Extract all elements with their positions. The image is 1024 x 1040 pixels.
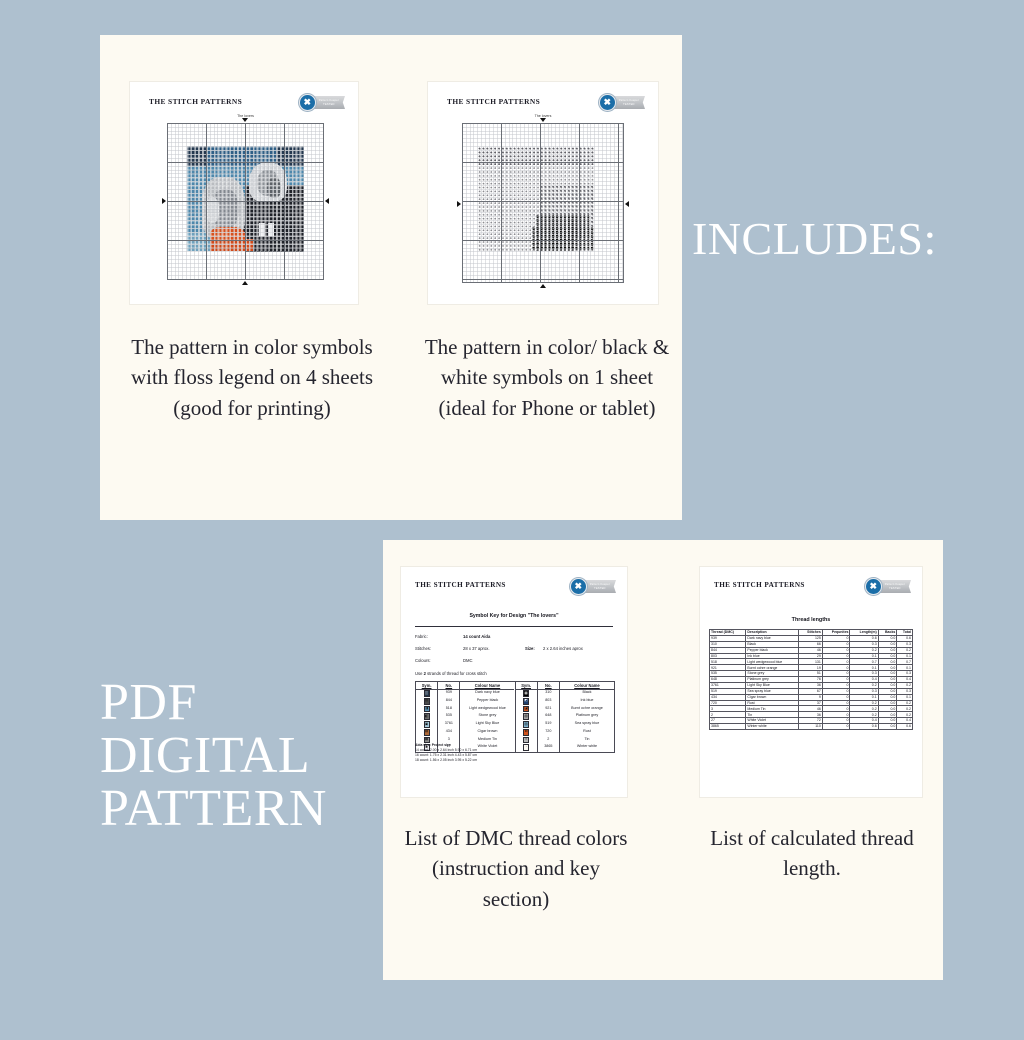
symbol-key-row: ◨518Light wedgewood blue (416, 705, 515, 713)
dmc-number-cell: 518 (437, 705, 460, 713)
caption-thread-length: List of calculated thread length. (690, 823, 934, 884)
thread-color-swatch-icon: ▨ (523, 713, 529, 720)
sheet-bw-symbols[interactable]: THE STITCH PATTERNS ✖ Pattern Keeper TES… (428, 82, 658, 304)
badge-seal-icon: ✖ (599, 94, 616, 111)
thread-description-cell: Winter white (746, 724, 799, 730)
symbol-key-row: ◧535Stone grey (416, 713, 515, 721)
dmc-number-cell: 939 (437, 690, 460, 698)
includes-heading: INCLUDES: (692, 216, 937, 263)
thread-color-swatch-icon: ▤ (424, 729, 430, 736)
symbol-swatch-cell: ▪ (516, 736, 537, 744)
symbol-key-row: ▧519Sea spray blue (516, 721, 615, 729)
thread-dmc-cell: 3865 (710, 724, 746, 730)
symbol-key-row: ◪921Burnt ochre orange (516, 705, 615, 713)
thread-color-swatch-icon: · (523, 744, 529, 751)
symbol-swatch-cell: ◨ (416, 705, 437, 713)
chart-grid (167, 123, 324, 280)
thread-color-swatch-icon: ▩ (523, 690, 529, 697)
bw-chart[interactable]: The lovers (462, 123, 624, 283)
chart-marker-top (242, 118, 248, 122)
symbol-key-row: ▤434Cigar brown (416, 728, 515, 736)
symbol-key-row: ·3865Winter white (516, 744, 615, 752)
thread-color-swatch-icon: ◧ (424, 713, 430, 720)
colour-name-cell: Burnt ochre orange (560, 705, 614, 713)
stitches-label: Stitches: (415, 646, 431, 651)
symbol-key-header-cell: No. (537, 682, 560, 690)
badge-line2: TESTED (623, 103, 634, 106)
colours-label: Colours: (415, 658, 431, 663)
dmc-number-cell: 3761 (437, 721, 460, 729)
aida-footer-title: Aida size: Project size (415, 743, 451, 747)
thread-lengths-table: Thread (DMC)DescriptionStitchesPequnites… (709, 629, 913, 730)
pattern-keeper-badge: ✖ Pattern Keeper TESTED (570, 578, 616, 595)
sheet-thread-lengths[interactable]: THE STITCH PATTERNS ✖ Pattern Keeper TES… (700, 567, 922, 797)
colour-name-cell: Pepper black (460, 697, 514, 705)
symbol-key-row: ▣3761Light Sky Blue (416, 721, 515, 729)
dmc-number-cell: 3865 (537, 744, 560, 752)
symbol-key-column: Sym.No.Colour Name▩310Black◩803Ink blue◪… (515, 682, 615, 752)
sheet-brand-title: THE STITCH PATTERNS (714, 581, 805, 589)
thread-color-swatch-icon: ▥ (424, 698, 430, 705)
badge-line2: TESTED (594, 587, 605, 590)
symbol-swatch-cell: ◪ (516, 705, 537, 713)
thread-color-swatch-icon: ▧ (523, 721, 529, 728)
colour-name-cell: Sea spray blue (560, 721, 614, 729)
stitches-value: 28 x 37 aprox. (463, 646, 490, 651)
thread-color-swatch-icon: ◫ (424, 690, 430, 697)
symbol-key-column: Sym.No.Colour Name◫939Dark navy blue▥844… (416, 682, 515, 752)
symbol-swatch-cell: ▧ (516, 721, 537, 729)
caption-bw-symbols: The pattern in color/ black & white symb… (422, 332, 672, 423)
colour-name-cell: Tin (560, 736, 614, 744)
chart-marker-right (625, 201, 629, 207)
thread-color-swatch-icon: ▣ (424, 721, 430, 728)
dmc-number-cell: 844 (437, 697, 460, 705)
colour-name-cell: Black (560, 690, 614, 698)
thread-color-swatch-icon: ◪ (523, 706, 529, 713)
chart-border (167, 123, 324, 280)
symbol-swatch-cell: · (516, 744, 537, 752)
colour-name-cell: Platinum grey (560, 713, 614, 721)
symbol-swatch-cell: ◩ (516, 697, 537, 705)
fabric-value: 14 count Aida (463, 634, 490, 639)
thread-value-cell: 0 (822, 724, 850, 730)
chart-grid (462, 123, 624, 283)
symbol-key-row: ▩310Black (516, 690, 615, 698)
symbol-swatch-cell: ◘ (516, 728, 537, 736)
colour-name-cell: Light Sky Blue (460, 721, 514, 729)
symbol-key-row: ◘720Rust (516, 728, 615, 736)
dmc-number-cell: 434 (437, 728, 460, 736)
pdf-line-2: DIGITAL (100, 729, 327, 782)
colour-name-cell: Ink blue (560, 697, 614, 705)
size-label: Size: (525, 646, 535, 651)
symbol-swatch-cell: ▤ (416, 728, 437, 736)
thread-value-cell: 0.0 (878, 724, 897, 730)
symbol-key-title: Symbol Key for Design "The lovers" (401, 613, 627, 619)
symbol-key-row: ◫939Dark navy blue (416, 690, 515, 698)
badge-line2: TESTED (889, 587, 900, 590)
dmc-number-cell: 803 (537, 697, 560, 705)
thread-color-swatch-icon: ◩ (523, 698, 529, 705)
thread-value-cell: 110 (799, 724, 822, 730)
colour-name-cell: Cigar brown (460, 728, 514, 736)
thread-color-swatch-icon: ◨ (424, 706, 430, 713)
colour-name-cell: Dark navy blue (460, 690, 514, 698)
chart-marker-left (162, 198, 166, 204)
chart-border (462, 123, 624, 283)
symbol-key-header-cell: Colour Name (560, 682, 614, 690)
symbol-swatch-cell: ▥ (416, 697, 437, 705)
dmc-number-cell: 720 (537, 728, 560, 736)
symbol-key-header-cell: Colour Name (460, 682, 514, 690)
colour-name-cell: Winter white (560, 744, 614, 752)
colour-name-cell: Rust (560, 728, 614, 736)
dmc-number-cell: 921 (537, 705, 560, 713)
thread-value-cell: 0.6 (897, 724, 913, 730)
symbol-swatch-cell: ◫ (416, 690, 437, 698)
thread-lengths-title: Thread lengths (700, 617, 922, 623)
symbol-swatch-cell: ▩ (516, 690, 537, 698)
symbol-swatch-cell: ▣ (416, 721, 437, 729)
dmc-number-cell: 2 (537, 736, 560, 744)
sheet-brand-title: THE STITCH PATTERNS (149, 97, 242, 106)
colours-value: DMC (463, 658, 473, 663)
chart-marker-top (540, 118, 546, 122)
chart-marker-bottom (540, 284, 546, 288)
symbol-key-header-row: Sym.No.Colour Name (416, 682, 515, 690)
strands-note: Use 2 strands of thread for cross stitch (415, 671, 487, 676)
thread-color-swatch-icon: ▪ (523, 737, 529, 744)
symbol-key-row: ▪2Tin (516, 736, 615, 744)
symbol-swatch-cell: ◧ (416, 713, 437, 721)
symbol-key-header-cell: No. (437, 682, 460, 690)
colour-name-cell: Light wedgewood blue (460, 705, 514, 713)
pattern-keeper-badge: ✖ Pattern Keeper TESTED (599, 94, 645, 111)
caption-dmc-list: List of DMC thread colors (instruction a… (400, 823, 632, 914)
symbol-key-table: Sym.No.Colour Name◫939Dark navy blue▥844… (415, 681, 615, 753)
dmc-number-cell: 648 (537, 713, 560, 721)
symbol-key-row: ▥844Pepper black (416, 697, 515, 705)
aida-footer-line: 18 count: 1.56 x 2.05 inch 3.95 x 5.22 c… (415, 758, 477, 763)
symbol-key-header-cell: Sym. (416, 682, 437, 690)
sheet-brand-title: THE STITCH PATTERNS (415, 581, 506, 589)
badge-line2: TESTED (323, 103, 334, 106)
pdf-line-1: PDF (100, 676, 327, 729)
dmc-number-cell: 310 (537, 690, 560, 698)
badge-seal-icon: ✖ (570, 578, 587, 595)
colour-name-cell: Stone grey (460, 713, 514, 721)
sheet-symbol-key[interactable]: THE STITCH PATTERNS ✖ Pattern Keeper TES… (401, 567, 627, 797)
thread-value-cell: 0.6 (850, 724, 878, 730)
symbol-key-header-cell: Sym. (516, 682, 537, 690)
chart-marker-right (325, 198, 329, 204)
fabric-label: Fabric: (415, 634, 428, 639)
symbol-key-header-row: Sym.No.Colour Name (516, 682, 615, 690)
badge-seal-icon: ✖ (865, 578, 882, 595)
chart-marker-left (457, 201, 461, 207)
symbol-key-row: ▨648Platinum grey (516, 713, 615, 721)
sheet-color-symbols[interactable]: THE STITCH PATTERNS ✖ Pattern Keeper TES… (130, 82, 358, 304)
caption-color-symbols: The pattern in color symbols with floss … (128, 332, 376, 423)
pattern-keeper-badge: ✖ Pattern Keeper TESTED (865, 578, 911, 595)
thread-table-row: 3865Winter white11000.60.00.6 (710, 724, 913, 730)
symbol-swatch-cell: ▨ (516, 713, 537, 721)
pattern-keeper-badge: ✖ Pattern Keeper TESTED (299, 94, 345, 111)
thread-color-swatch-icon: ◘ (523, 729, 529, 736)
dmc-number-cell: 519 (537, 721, 560, 729)
badge-seal-icon: ✖ (299, 94, 316, 111)
pdf-line-3: PATTERN (100, 782, 327, 835)
pdf-digital-pattern-heading: PDF DIGITAL PATTERN (100, 676, 327, 835)
size-value: 2 x 2.64 inches aprox (543, 646, 583, 651)
chart-marker-bottom (242, 281, 248, 285)
key-divider (415, 626, 613, 627)
color-chart[interactable]: The lovers (167, 123, 324, 280)
sheet-brand-title: THE STITCH PATTERNS (447, 97, 540, 106)
poster-canvas: THE STITCH PATTERNS ✖ Pattern Keeper TES… (0, 0, 1024, 1040)
aida-size-footer: Aida size: Project size 14 count: 2.00 x… (415, 743, 477, 763)
symbol-key-row: ◩803Ink blue (516, 697, 615, 705)
dmc-number-cell: 535 (437, 713, 460, 721)
